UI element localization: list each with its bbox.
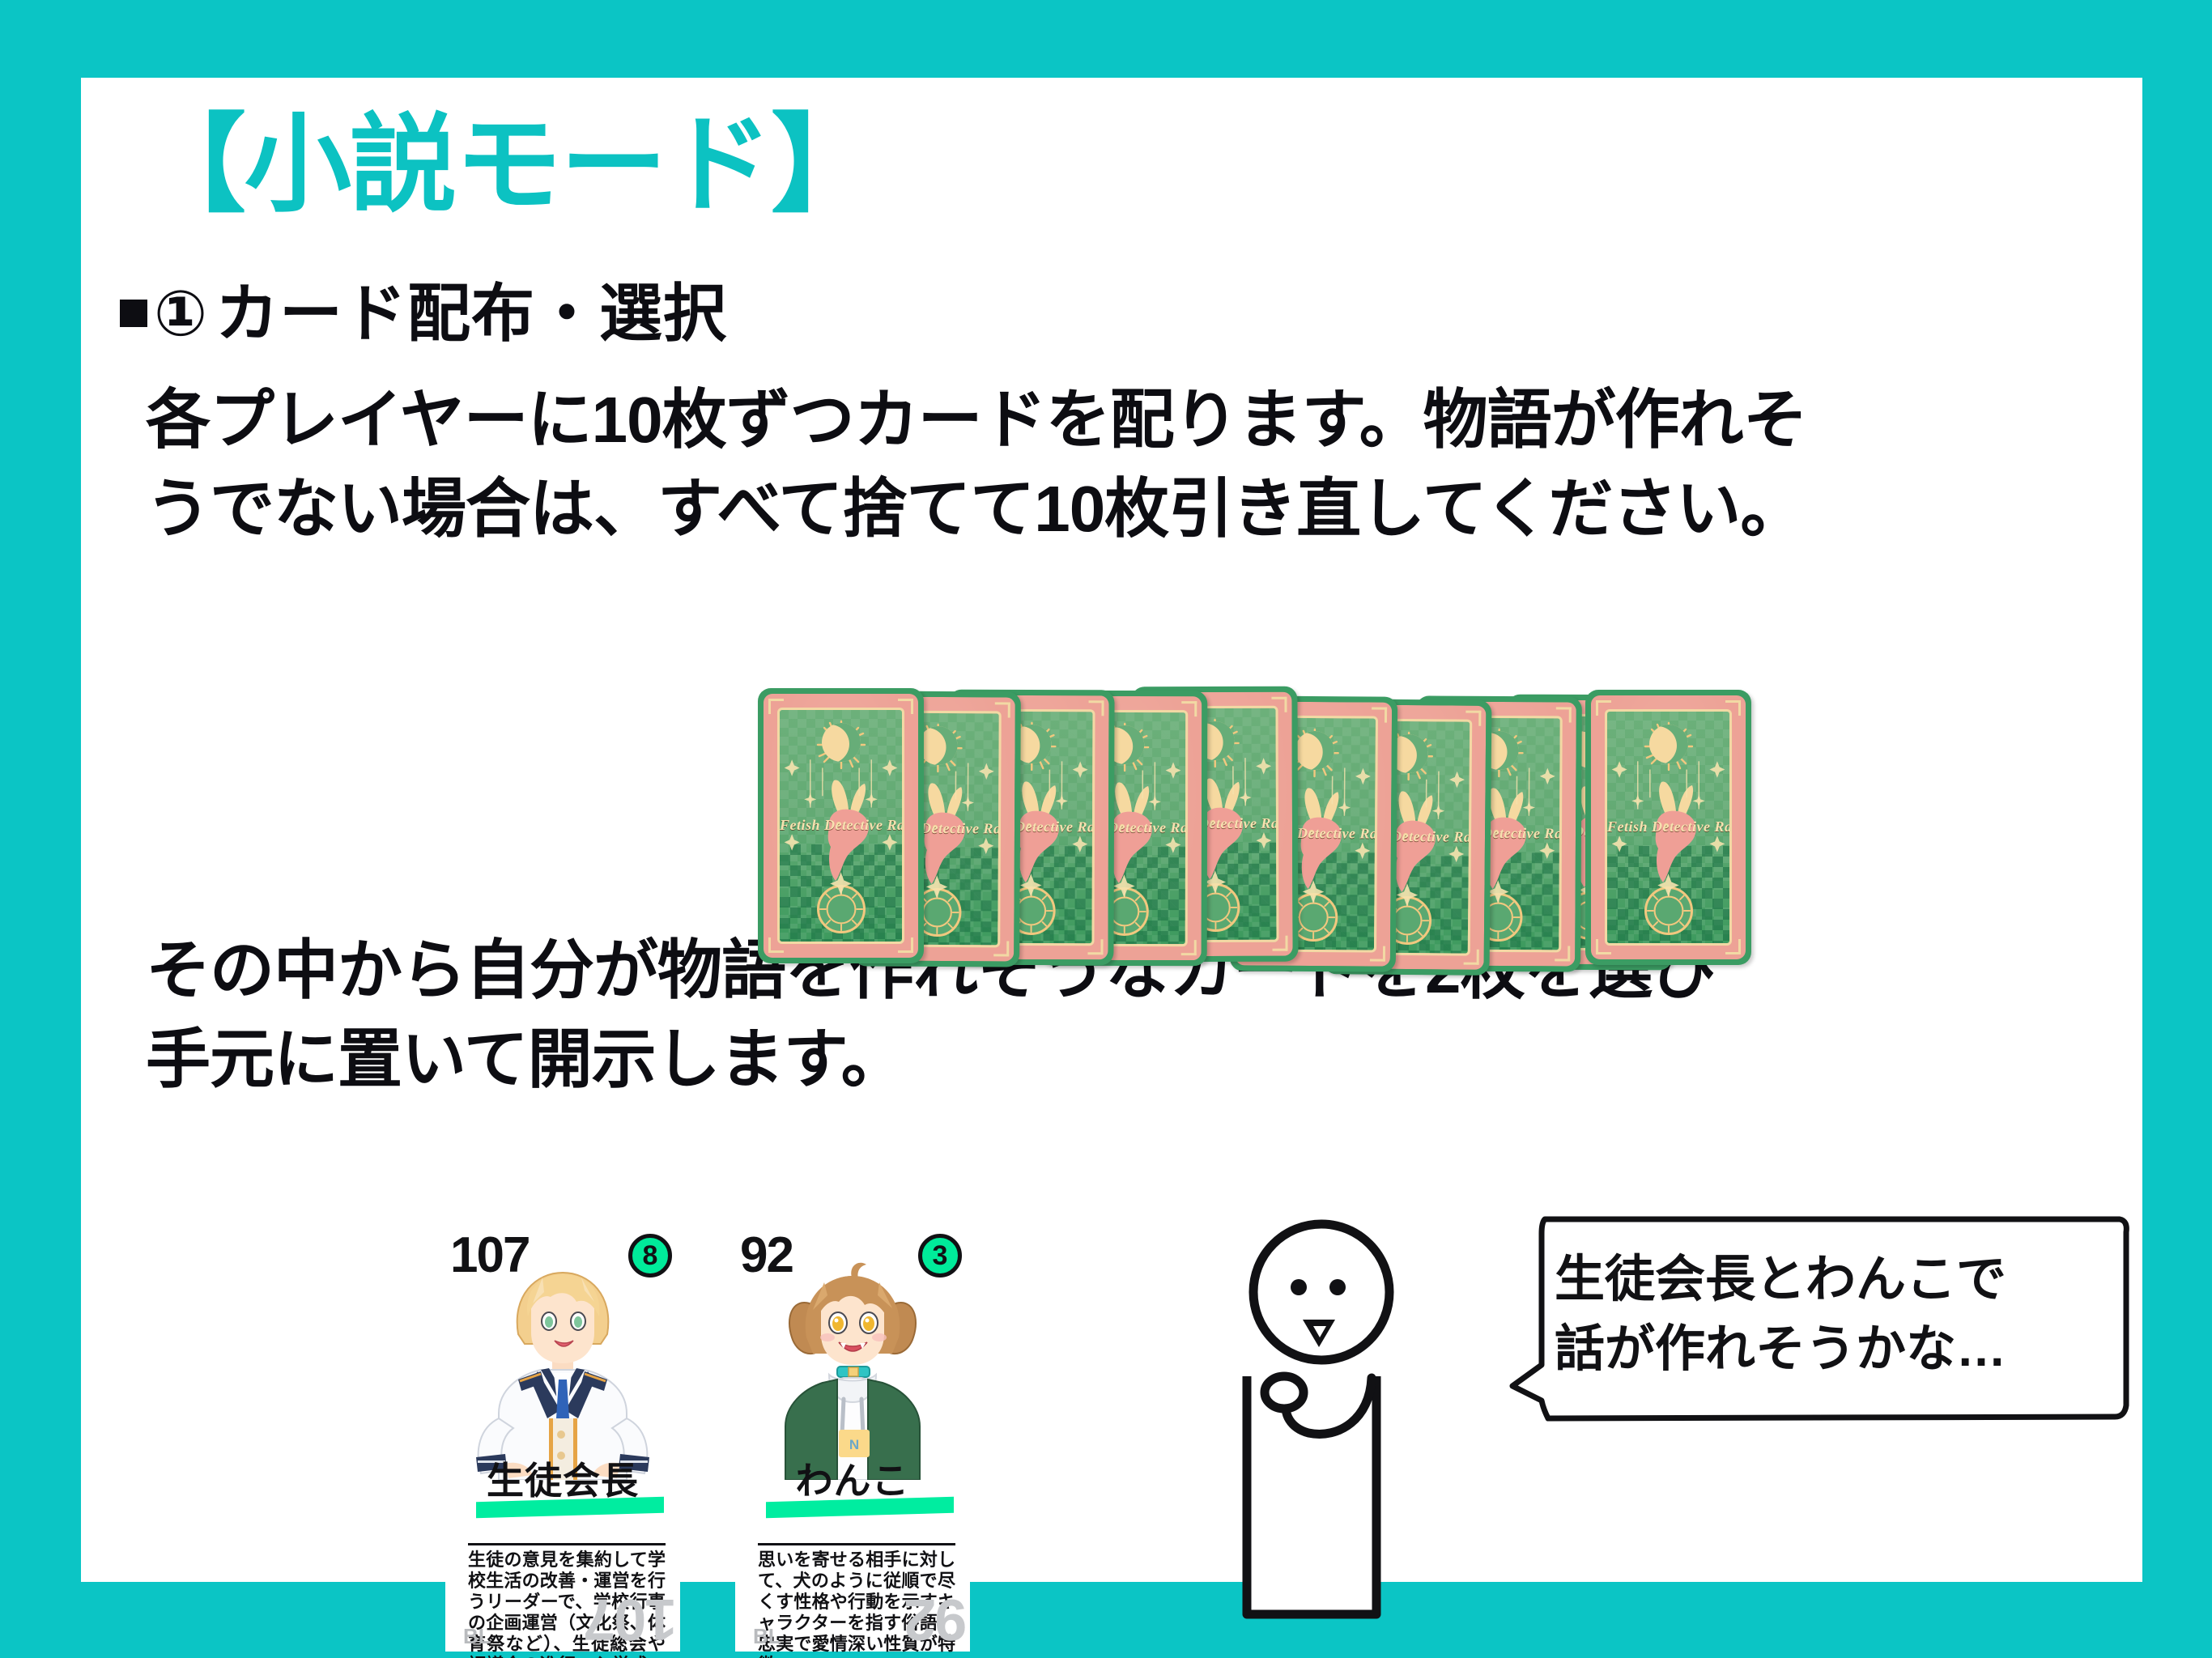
- card-tag: BL: [463, 1626, 491, 1647]
- card-name-block: 生徒会長: [445, 1462, 680, 1527]
- card-artwork-student-council-president: [463, 1260, 662, 1480]
- bullet-square-icon: [120, 300, 147, 327]
- paragraph-card-deal: 各プレイヤーに10枚ずつカードを配ります。物語が作れそうでない場合は、すべて捨て…: [146, 376, 1807, 555]
- svg-text:N: N: [849, 1437, 859, 1452]
- page-title: 【小説モード】: [139, 112, 876, 219]
- character-card[interactable]: 92 3: [735, 1231, 970, 1652]
- slide-canvas: 【小説モード】 ① カード配布・選択 各プレイヤーに10枚ずつカードを配ります。…: [81, 78, 2142, 1582]
- card-back-panel: Fetish Detective Rabbit: [777, 708, 904, 944]
- card-name: わんこ: [735, 1462, 970, 1499]
- card-back[interactable]: Fetish Detective Rabbit: [1585, 690, 1751, 965]
- card-fan: Fetish Detective RabbitFetish Detective …: [758, 687, 1729, 978]
- card-tag: BL: [753, 1626, 781, 1647]
- stick-figure-player: [1218, 1218, 1461, 1639]
- card-back-border: Fetish Detective Rabbit: [1591, 695, 1746, 959]
- card-divider: [758, 1543, 955, 1545]
- sparkle-decorations: [1607, 712, 1729, 943]
- card-artwork-wanko: N: [753, 1260, 952, 1480]
- slide-root: 【小説モード】 ① カード配布・選択 各プレイヤーに10枚ずつカードを配ります。…: [0, 0, 2212, 1658]
- card-back-border: Fetish Detective Rabbit: [764, 694, 918, 958]
- card-back[interactable]: Fetish Detective Rabbit: [758, 688, 924, 963]
- character-card[interactable]: 107 8: [445, 1231, 680, 1652]
- speech-bubble-text: 生徒会長とわんこで話が作れそうかな…: [1555, 1245, 2006, 1384]
- section-heading-label: カード配布・選択: [215, 282, 727, 345]
- card-name-block: わんこ: [735, 1462, 970, 1527]
- section-heading: ① カード配布・選択: [120, 282, 727, 345]
- speech-bubble: 生徒会長とわんこで話が作れそうかな…: [1467, 1214, 2131, 1423]
- sparkle-decorations: [780, 710, 902, 942]
- section-number: ①: [154, 282, 207, 345]
- card-ghost-number: 92: [905, 1590, 967, 1648]
- card-divider: [468, 1543, 666, 1545]
- card-back-panel: Fetish Detective Rabbit: [1605, 709, 1732, 946]
- card-name: 生徒会長: [445, 1462, 680, 1499]
- card-ghost-number: 107: [585, 1590, 677, 1648]
